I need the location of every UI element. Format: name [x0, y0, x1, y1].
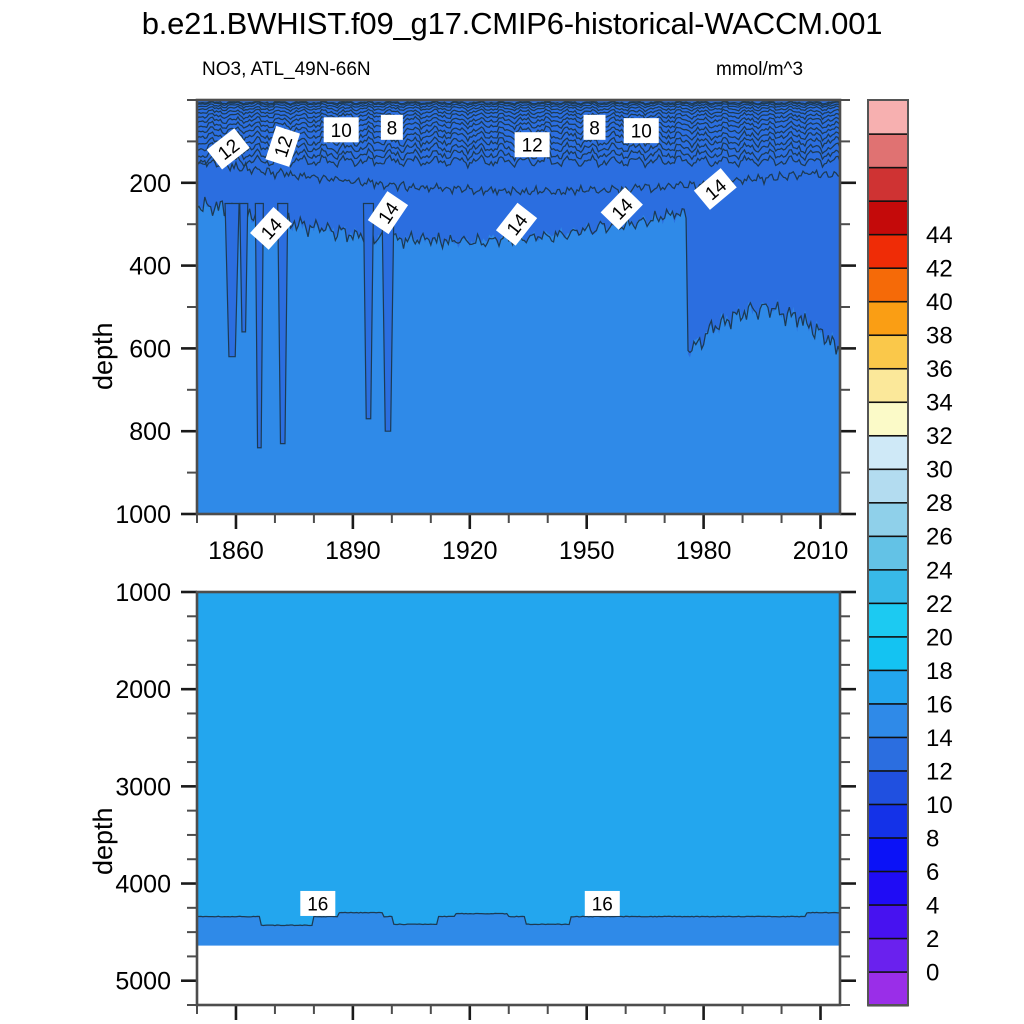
colorbar-tick-label: 30 [926, 457, 953, 484]
y-tick-label: 200 [129, 170, 171, 198]
colorbar-tick-label: 2 [926, 926, 939, 953]
svg-text:16: 16 [592, 894, 613, 915]
upper-panel-plot-area: 1212108128101414141414186018901920195019… [115, 100, 856, 565]
x-tick-label: 2010 [793, 537, 849, 565]
contour-plot-figure: 1212108128101414141414186018901920195019… [0, 0, 1024, 1024]
svg-text:8: 8 [387, 118, 398, 139]
y-tick-label: 2000 [115, 676, 171, 704]
x-tick-label: 1980 [676, 537, 732, 565]
contour-label: 12 [515, 132, 550, 157]
colorbar-tick-label: 6 [926, 859, 939, 886]
colorbar-tick-label: 18 [926, 658, 953, 685]
y-tick-label: 1000 [115, 579, 171, 607]
colorbar-band [868, 569, 908, 603]
y-tick-label: 5000 [115, 968, 171, 996]
y-tick-label: 800 [129, 418, 171, 446]
colorbar-tick-label: 42 [926, 256, 953, 283]
colorbar-tick-label: 22 [926, 591, 953, 618]
colorbar-band [868, 167, 908, 201]
colorbar-band [868, 268, 908, 302]
colorbar-band [868, 368, 908, 402]
x-tick-label: 1920 [442, 537, 498, 565]
x-tick-label: 1890 [325, 537, 381, 565]
colorbar-band [868, 636, 908, 670]
colorbar-band [868, 770, 908, 804]
y-tick-label: 3000 [115, 773, 171, 801]
colorbar-band [868, 435, 908, 469]
svg-text:12: 12 [522, 136, 543, 157]
colorbar-band [868, 837, 908, 871]
colorbar-band [868, 100, 908, 134]
colorbar-tick-label: 32 [926, 423, 953, 450]
lower-panel-plot-area: 161610002000300040005000 [115, 579, 856, 1020]
colorbar-band [868, 971, 908, 1005]
colorbar-tick-label: 8 [926, 825, 939, 852]
colorbar-tick-label: 0 [926, 959, 939, 986]
colorbar-band [868, 201, 908, 235]
colorbar-tick-label: 16 [926, 691, 953, 718]
colorbar-band [868, 703, 908, 737]
colorbar-band [868, 804, 908, 838]
contour-label: 10 [624, 118, 659, 143]
colorbar: 0246810121416182022242628303234363840424… [868, 100, 953, 1006]
colorbar-band [868, 402, 908, 436]
colorbar-tick-label: 12 [926, 758, 953, 785]
colorbar-band [868, 938, 908, 972]
colorbar-band [868, 335, 908, 369]
svg-text:16: 16 [307, 894, 328, 915]
x-tick-label: 1860 [208, 537, 264, 565]
y-tick-label: 1000 [115, 501, 171, 529]
colorbar-tick-label: 44 [926, 222, 953, 249]
y-tick-label: 400 [129, 253, 171, 281]
svg-text:10: 10 [631, 122, 652, 143]
svg-text:8: 8 [589, 118, 600, 139]
contour-label: 16 [585, 891, 620, 916]
colorbar-band [868, 603, 908, 637]
colorbar-tick-label: 10 [926, 792, 953, 819]
colorbar-band [868, 536, 908, 570]
colorbar-band [868, 469, 908, 503]
colorbar-tick-label: 14 [926, 725, 953, 752]
colorbar-tick-label: 36 [926, 356, 953, 383]
x-tick-label: 1950 [559, 537, 615, 565]
colorbar-band [868, 301, 908, 335]
colorbar-band [868, 670, 908, 704]
colorbar-tick-label: 4 [926, 892, 939, 919]
colorbar-band [868, 737, 908, 771]
y-tick-label: 600 [129, 335, 171, 363]
colorbar-band [868, 502, 908, 536]
colorbar-tick-label: 40 [926, 289, 953, 316]
colorbar-band [868, 134, 908, 168]
svg-text:10: 10 [331, 121, 352, 142]
colorbar-tick-label: 24 [926, 557, 953, 584]
contour-label: 10 [324, 117, 359, 142]
colorbar-tick-label: 20 [926, 624, 953, 651]
colorbar-tick-label: 28 [926, 490, 953, 517]
colorbar-band [868, 234, 908, 268]
contour-label: 8 [381, 115, 403, 140]
y-tick-label: 4000 [115, 871, 171, 899]
colorbar-band [868, 904, 908, 938]
contour-label: 8 [583, 115, 605, 140]
contour-label: 16 [300, 891, 335, 916]
colorbar-tick-label: 38 [926, 323, 953, 350]
colorbar-tick-label: 34 [926, 390, 953, 417]
colorbar-tick-label: 26 [926, 524, 953, 551]
colorbar-band [868, 871, 908, 905]
